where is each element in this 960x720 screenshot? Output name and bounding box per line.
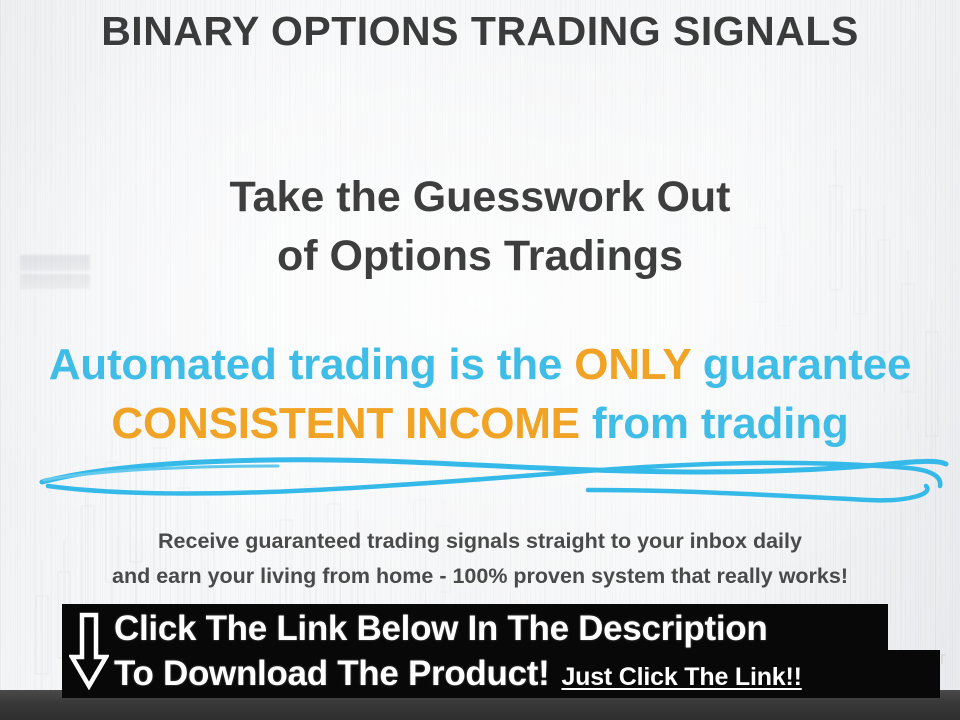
promo-line-1-part-2: guarantee <box>691 340 912 389</box>
cta-line-1: Click The Link Below In The Description <box>114 606 940 652</box>
body-copy-line-1: Receive guaranteed trading signals strai… <box>0 524 960 559</box>
promo-line-1-highlight: ONLY <box>574 340 691 389</box>
body-copy: Receive guaranteed trading signals strai… <box>0 524 960 594</box>
cta-line-2: To Download The Product! Just Click The … <box>114 652 940 697</box>
headline-line-1: Take the Guesswork Out <box>0 168 960 227</box>
down-arrow-icon <box>62 604 114 698</box>
promo-line-1-part-1: Automated trading is the <box>49 340 574 389</box>
cta-link-text[interactable]: Just Click The Link!! <box>561 661 801 693</box>
cta-line-2-main: To Download The Product! <box>114 652 549 697</box>
promo-headline: Automated trading is the ONLY guarantee … <box>0 336 960 453</box>
cta-banner[interactable]: Click The Link Below In The Description … <box>62 604 940 698</box>
promo-line-2: CONSISTENT INCOME from trading <box>0 395 960 454</box>
headline-line-2: of Options Tradings <box>0 227 960 286</box>
body-copy-line-2: and earn your living from home - 100% pr… <box>0 559 960 594</box>
promo-line-2-highlight: CONSISTENT INCOME <box>111 399 579 448</box>
page-title: BINARY OPTIONS TRADING SIGNALS <box>0 8 960 55</box>
headline: Take the Guesswork Out of Options Tradin… <box>0 168 960 287</box>
video-frame: BINARY OPTIONS TRADING SIGNALS Take the … <box>0 0 960 720</box>
promo-line-2-part-2: from trading <box>580 399 849 448</box>
promo-line-1: Automated trading is the ONLY guarantee <box>0 336 960 395</box>
